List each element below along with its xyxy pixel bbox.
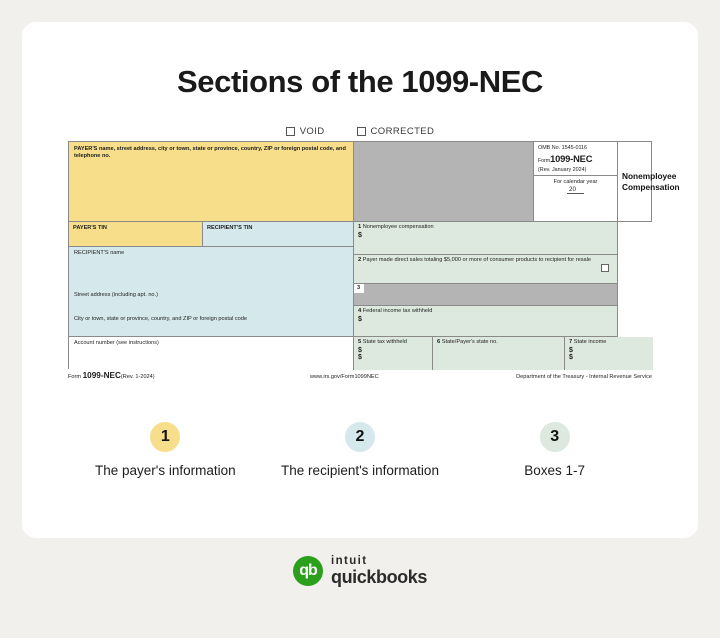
void-label: VOID [300,126,325,137]
footer-revision: (Rev. 1-2024) [121,374,155,380]
callout-2: 2 The recipient's information [263,422,458,481]
omb-form-word: Form [538,158,550,164]
box-7-amount-2: $ [569,354,649,361]
logo-wordmark: intuit quickbooks [331,556,427,586]
payer-tin-field[interactable]: PAYER'S TIN [69,222,203,247]
logo-intuit-text: intuit [331,556,427,568]
form-right-white-spacer [618,222,653,337]
payer-info-block: PAYER'S name, street address, city or to… [69,142,354,222]
callout-3: 3 Boxes 1-7 [457,422,652,481]
account-number-label: Account number (see instructions) [74,340,159,346]
callouts-row: 1 The payer's information 2 The recipien… [68,422,652,481]
box-7-state-income[interactable]: 7State income $ $ [565,337,653,370]
corrected-checkbox-item[interactable]: CORRECTED [357,126,435,137]
page-title: Sections of the 1099-NEC [22,64,698,100]
void-corrected-row: VOID CORRECTED [22,126,698,137]
recipient-tin-label: RECIPIENT'S TIN [207,225,349,232]
quickbooks-mark-icon: qb [293,556,323,586]
content-card: Sections of the 1099-NEC VOID CORRECTED … [22,22,698,538]
box-2-number: 2 [358,257,361,263]
recipient-street-label: Street address (including apt. no.) [74,292,158,298]
recipient-name-field[interactable]: RECIPIENT'S name [69,247,353,289]
box-7-amount-1: $ [569,347,649,354]
callout-3-circle: 3 [540,422,570,452]
form-footer-agency: Department of the Treasury - Internal Re… [516,374,652,380]
box-1-nonemployee-compensation[interactable]: 1Nonemployee compensation $ [354,222,618,255]
payer-tin-label: PAYER'S TIN [73,225,198,232]
box-7-number: 7 [569,339,572,345]
nonemployee-compensation-title: Nonemployee Compensation [618,142,652,222]
omb-calendar-year-label: For calendar year [534,176,617,185]
callout-1-text: The payer's information [95,461,236,481]
quickbooks-logo: qb intuit quickbooks [0,556,720,586]
corrected-checkbox-icon[interactable] [357,127,366,136]
box-7-label: State income [574,339,607,345]
recipient-name-label: RECIPIENT'S name [74,250,124,256]
footer-form-word: Form [68,374,81,380]
callout-2-text: The recipient's information [281,461,439,481]
box-5-amount-2: $ [358,354,428,361]
callout-3-text: Boxes 1-7 [524,461,585,481]
box-1-label: Nonemployee compensation [363,224,434,230]
box-3-reserved: 3 [354,284,618,306]
callout-1-circle: 1 [150,422,180,452]
box-5-number: 5 [358,339,361,345]
form-footer-url[interactable]: www.irs.gov/Form1099NEC [310,374,379,380]
omb-year-prefix: 20 [567,186,584,194]
account-number-field[interactable]: Account number (see instructions) [69,337,354,370]
form-footer-left: Form 1099-NEC(Rev. 1-2024) [68,371,155,380]
form-grey-spacer [354,142,534,222]
omb-year-field[interactable]: 20 [534,185,617,193]
box-2-label: Payer made direct sales totaling $5,000 … [363,257,591,263]
box-4-amount: $ [358,316,613,323]
payer-info-label: PAYER'S name, street address, city or to… [74,146,348,161]
box-1-amount: $ [358,232,613,239]
box-5-state-tax-withheld[interactable]: 5State tax withheld $ $ [354,337,433,370]
callout-2-circle: 2 [345,422,375,452]
box-4-label: Federal income tax withheld [363,308,433,314]
box-2-checkbox-icon[interactable] [601,264,609,272]
box-6-label: State/Payer's state no. [442,339,498,345]
void-checkbox-item[interactable]: VOID [286,126,325,137]
box-5-label: State tax withheld [363,339,407,345]
page-root: Sections of the 1099-NEC VOID CORRECTED … [0,0,720,638]
recipient-city-label: City or town, state or province, country… [74,316,247,322]
box-2-direct-sales[interactable]: 2Payer made direct sales totaling $5,000… [354,255,618,284]
box-4-number: 4 [358,308,361,314]
form-1099-nec: PAYER'S name, street address, city or to… [68,141,652,369]
box-3-number: 3 [354,284,364,293]
box-6-state-payer-state-no[interactable]: 6State/Payer's state no. [433,337,565,370]
box-6-number: 6 [437,339,440,345]
box-5-amount-1: $ [358,347,428,354]
omb-block: OMB No. 1545-0116 Form1099-NEC (Rev. Jan… [534,142,618,222]
omb-revision: (Rev. January 2024) [534,164,617,176]
callout-1: 1 The payer's information [68,422,263,481]
recipient-info-block: RECIPIENT'S name Street address (includi… [69,247,354,337]
recipient-street-field[interactable]: Street address (including apt. no.) [69,289,353,313]
logo-quickbooks-text: quickbooks [331,568,427,586]
footer-form-name: 1099-NEC [83,371,121,380]
box-4-federal-income-tax-withheld[interactable]: 4Federal income tax withheld $ [354,306,618,337]
void-checkbox-icon[interactable] [286,127,295,136]
recipient-tin-field[interactable]: RECIPIENT'S TIN [203,222,354,247]
recipient-city-field[interactable]: City or town, state or province, country… [69,313,353,337]
corrected-label: CORRECTED [371,126,435,137]
omb-number: OMB No. 1545-0116 [534,142,617,151]
omb-form-name: 1099-NEC [550,153,592,164]
box-1-number: 1 [358,224,361,230]
omb-form-line: Form1099-NEC [534,151,617,164]
